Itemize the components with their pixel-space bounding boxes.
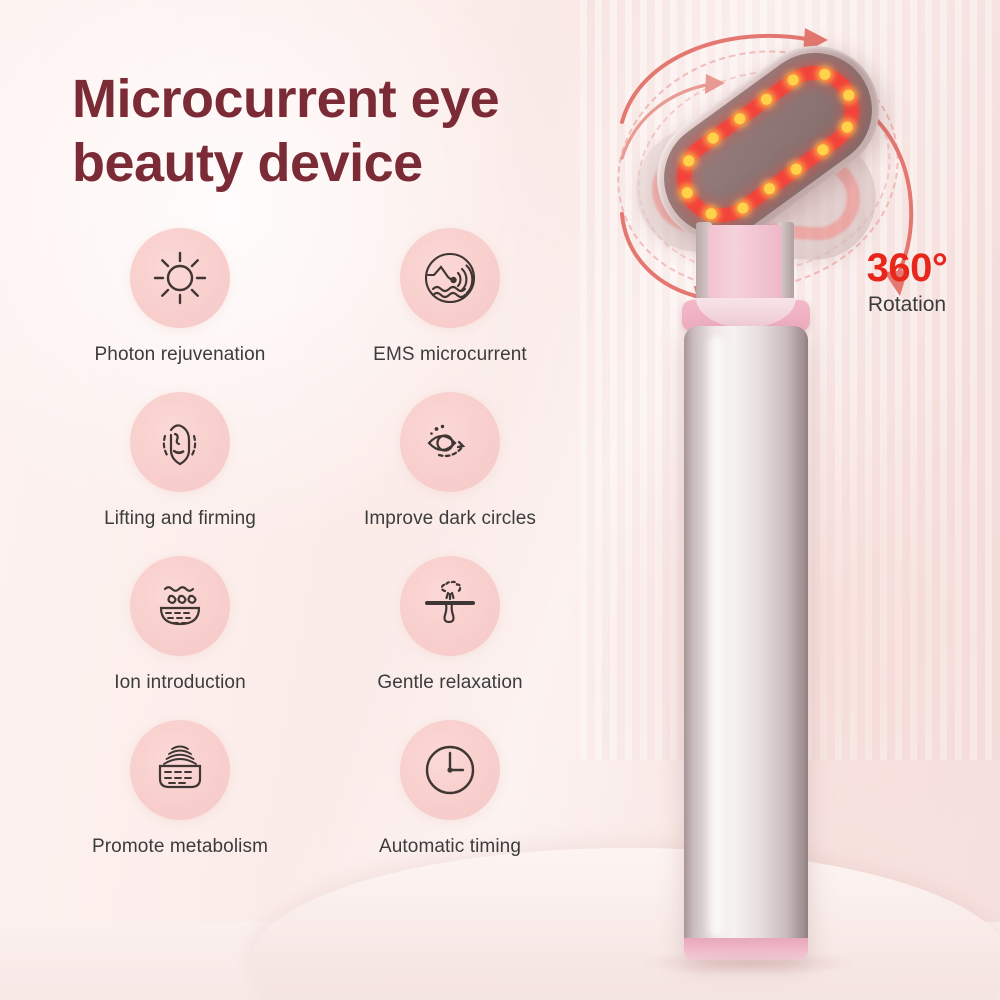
face-lift-icon: [130, 392, 230, 492]
led-dot: [703, 206, 718, 221]
feature-label: Photon rejuvenation: [95, 344, 266, 366]
led-dot: [817, 67, 832, 82]
feature-item-gentle-relaxation: Gentle relaxation: [334, 556, 566, 694]
feature-label: Gentle relaxation: [377, 672, 522, 694]
handle-shadow: [640, 950, 860, 976]
led-dot: [681, 153, 696, 168]
rotation-badge-label: Rotation: [842, 294, 972, 315]
clock-icon: [400, 720, 500, 820]
ion-droplet-icon: [130, 556, 230, 656]
led-dot: [679, 185, 694, 200]
skin-layer-icon: [130, 720, 230, 820]
rotation-badge-value: 360°: [842, 248, 972, 288]
title-line-2: beauty device: [72, 132, 632, 196]
feature-label: Ion introduction: [114, 672, 246, 694]
feature-item-improve-dark-circles: Improve dark circles: [334, 392, 566, 530]
led-dot: [735, 200, 750, 215]
eye-icon: [400, 392, 500, 492]
led-dot: [840, 120, 855, 135]
led-dot: [841, 88, 856, 103]
feature-label: EMS microcurrent: [373, 344, 527, 366]
rotation-badge: 360° Rotation: [842, 248, 972, 315]
feature-label: Improve dark circles: [364, 508, 536, 530]
led-dot: [762, 181, 777, 196]
feature-label: Lifting and firming: [104, 508, 256, 530]
title-line-1: Microcurrent eye: [72, 69, 499, 129]
handle-highlight: [704, 336, 730, 936]
feature-grid: Photon rejuvenation EMS microcurrent: [64, 228, 624, 858]
feature-item-ems-microcurrent: EMS microcurrent: [334, 228, 566, 366]
feature-item-promote-metabolism: Promote metabolism: [64, 720, 296, 858]
page-title: Microcurrent eye beauty device: [72, 68, 632, 195]
product-image: 360° Rotation: [600, 0, 1000, 1000]
ems-wave-icon: [400, 228, 500, 328]
sun-icon: [130, 228, 230, 328]
led-dot: [816, 142, 831, 157]
feature-item-automatic-timing: Automatic timing: [334, 720, 566, 858]
device-handle: [684, 326, 808, 956]
led-dot: [786, 72, 801, 87]
product-marketing-banner: Microcurrent eye beauty device Photon re…: [0, 0, 1000, 1000]
feature-label: Automatic timing: [379, 836, 521, 858]
led-dot: [759, 92, 774, 107]
feature-item-photon-rejuvenation: Photon rejuvenation: [64, 228, 296, 366]
pore-steam-icon: [400, 556, 500, 656]
feature-label: Promote metabolism: [92, 836, 268, 858]
feature-item-ion-introduction: Ion introduction: [64, 556, 296, 694]
led-dot: [732, 111, 747, 126]
led-dot: [789, 161, 804, 176]
feature-item-lifting-and-firming: Lifting and firming: [64, 392, 296, 530]
led-dot: [705, 131, 720, 146]
